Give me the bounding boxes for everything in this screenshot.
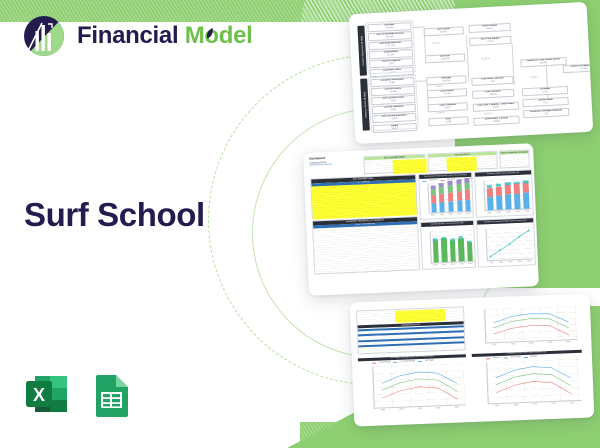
chart-data-label: 92 <box>442 236 446 239</box>
chart-data-label: 67% <box>523 180 529 183</box>
brand-logo: Financial Model <box>22 14 253 58</box>
dashboard-panel-key-assumptions: KEY ASSUMPTIONS <box>363 154 426 175</box>
line-series <box>486 227 533 260</box>
preview-card-scenario-charts[interactable]: SCENARIO ANALYSIS 2022 <box>350 293 595 426</box>
dupont-ratio: (0.04) % <box>484 113 492 115</box>
dupont-connector <box>416 80 426 81</box>
dashboard-chart-cumulative-cash: Cumulative Operating Cash ($ 000) | Year… <box>476 217 536 267</box>
scenario-body: SCENARIO ANALYSIS 2022 <box>354 298 590 423</box>
dashboard-chart-profitability: Profitability ($ 000) | Years to Decembe… <box>474 169 534 217</box>
dupont-node: Return on Total Assets (ROA)129.6% <box>520 57 566 68</box>
dupont-node: Total Debt + Equity = Total Assets47,047 <box>473 102 519 113</box>
dupont-ratio: (1.00) % <box>435 85 443 87</box>
chart-data-label: 90 <box>459 236 463 239</box>
scenario-chart-2: Gross Margin | Net Margin ($ 000) | Year… <box>358 354 470 420</box>
dashboard-panel-financials-table: SUMMARY FINANCIAL STATEMENTS Annual Fina… <box>312 216 420 274</box>
dupont-node: Net Income60,971 <box>424 26 464 37</box>
dupont-node: Shareholder's Equity38,637 <box>473 116 519 127</box>
brand-name-part-2: Model <box>185 22 253 49</box>
page-title: Surf School <box>24 196 205 234</box>
dashboard-chart-cash-burn: Cash Burn ($ 000) | Years to December 20… <box>420 220 476 270</box>
dupont-node: Revenue225,000 <box>425 53 465 64</box>
dashboard-panel-key-outputs: KEY OUTPUTS <box>427 151 498 172</box>
dupont-node: Financial Leverage multiplier1.22 <box>523 108 569 119</box>
dupont-node: Leverage1.22x <box>522 86 568 97</box>
line-series <box>373 363 465 408</box>
line-series <box>485 306 577 343</box>
chart-data-label: 64% <box>486 185 492 188</box>
dupont-node: Debt1,500 <box>428 116 468 127</box>
dupont-node: Total Assets47,047 <box>427 88 467 99</box>
dashboard-panel-summary: SUMMARY FINANCIAL STATEMENTS <box>499 149 530 168</box>
financial-model-circle-chart-logo-icon <box>22 14 66 58</box>
dupont-ratio: (0.43) % <box>432 43 440 45</box>
line-series <box>487 359 582 404</box>
preview-card-dashboard[interactable]: Dashboard Company Name Monthly Period Su… <box>303 143 539 296</box>
dupont-node: Revenue225,000 <box>426 75 466 86</box>
dashboard-chart-revenue-streams: Top 5 Revenue Streams ($ 000) | Years to… <box>418 172 474 220</box>
dupont-ratio: (0.02) % <box>530 76 538 78</box>
dupont-node: Total Liabilities8,410 <box>428 102 468 113</box>
scenario-table: SCENARIO ANALYSIS <box>356 306 466 354</box>
dupont-node: Total Asset Turnover4.78 <box>471 76 513 87</box>
excel-icon[interactable]: X <box>22 370 72 420</box>
dashboard-title: Dashboard Company Name Monthly Period Su… <box>309 157 332 167</box>
leaf-icon <box>205 28 214 39</box>
dupont-node: ROE Turnover129.6% <box>472 89 514 100</box>
dashboard-body: Dashboard Company Name Monthly Period Su… <box>307 147 534 291</box>
dupont-ratio: (0.18) % <box>481 58 489 60</box>
chart-data-label: 66% <box>514 181 520 184</box>
file-format-icons: X <box>22 370 136 420</box>
chart-data-label: 86 <box>450 238 454 241</box>
preview-card-dupont-analysis[interactable]: Income Statement ($ 000) Balance Sheet (… <box>349 2 593 144</box>
chart-data-label: 66% <box>505 182 511 185</box>
dupont-node: Current Ratio6.24 <box>522 97 568 108</box>
dupont-connector <box>414 26 424 27</box>
cover-image: Financial Model Surf School X <box>0 0 600 448</box>
dupont-ratio: (1.25) % <box>436 112 444 114</box>
scenario-chart-3: Profitability Summary ($ 000) | Years to… <box>472 350 586 416</box>
dupont-tree: Income Statement ($ 000) Balance Sheet (… <box>355 8 589 138</box>
scenario-chart-1: 2022 2023 2024 2025 2026 <box>470 302 582 354</box>
dupont-group-box <box>365 20 416 74</box>
brand-name: Financial Model <box>77 22 253 50</box>
chart-data-label: 88 <box>433 238 437 241</box>
chart-data-label: 74 <box>467 240 471 243</box>
svg-text:X: X <box>33 385 45 405</box>
dupont-node: Gross margin64.0% <box>468 23 510 34</box>
dupont-group-box <box>368 75 419 131</box>
dupont-node: Net Profit Margin27.1% <box>469 36 511 47</box>
chart-data-label: 65% <box>496 183 502 186</box>
google-sheets-icon[interactable] <box>86 370 136 420</box>
dupont-node-roe: Return on Equity (ROE)157.8% <box>563 63 594 74</box>
brand-name-part-1: Financial <box>77 22 178 49</box>
dashboard-panel-assumptions-table: KEY ASSUMPTIONS KEY METRICS <box>310 174 418 218</box>
